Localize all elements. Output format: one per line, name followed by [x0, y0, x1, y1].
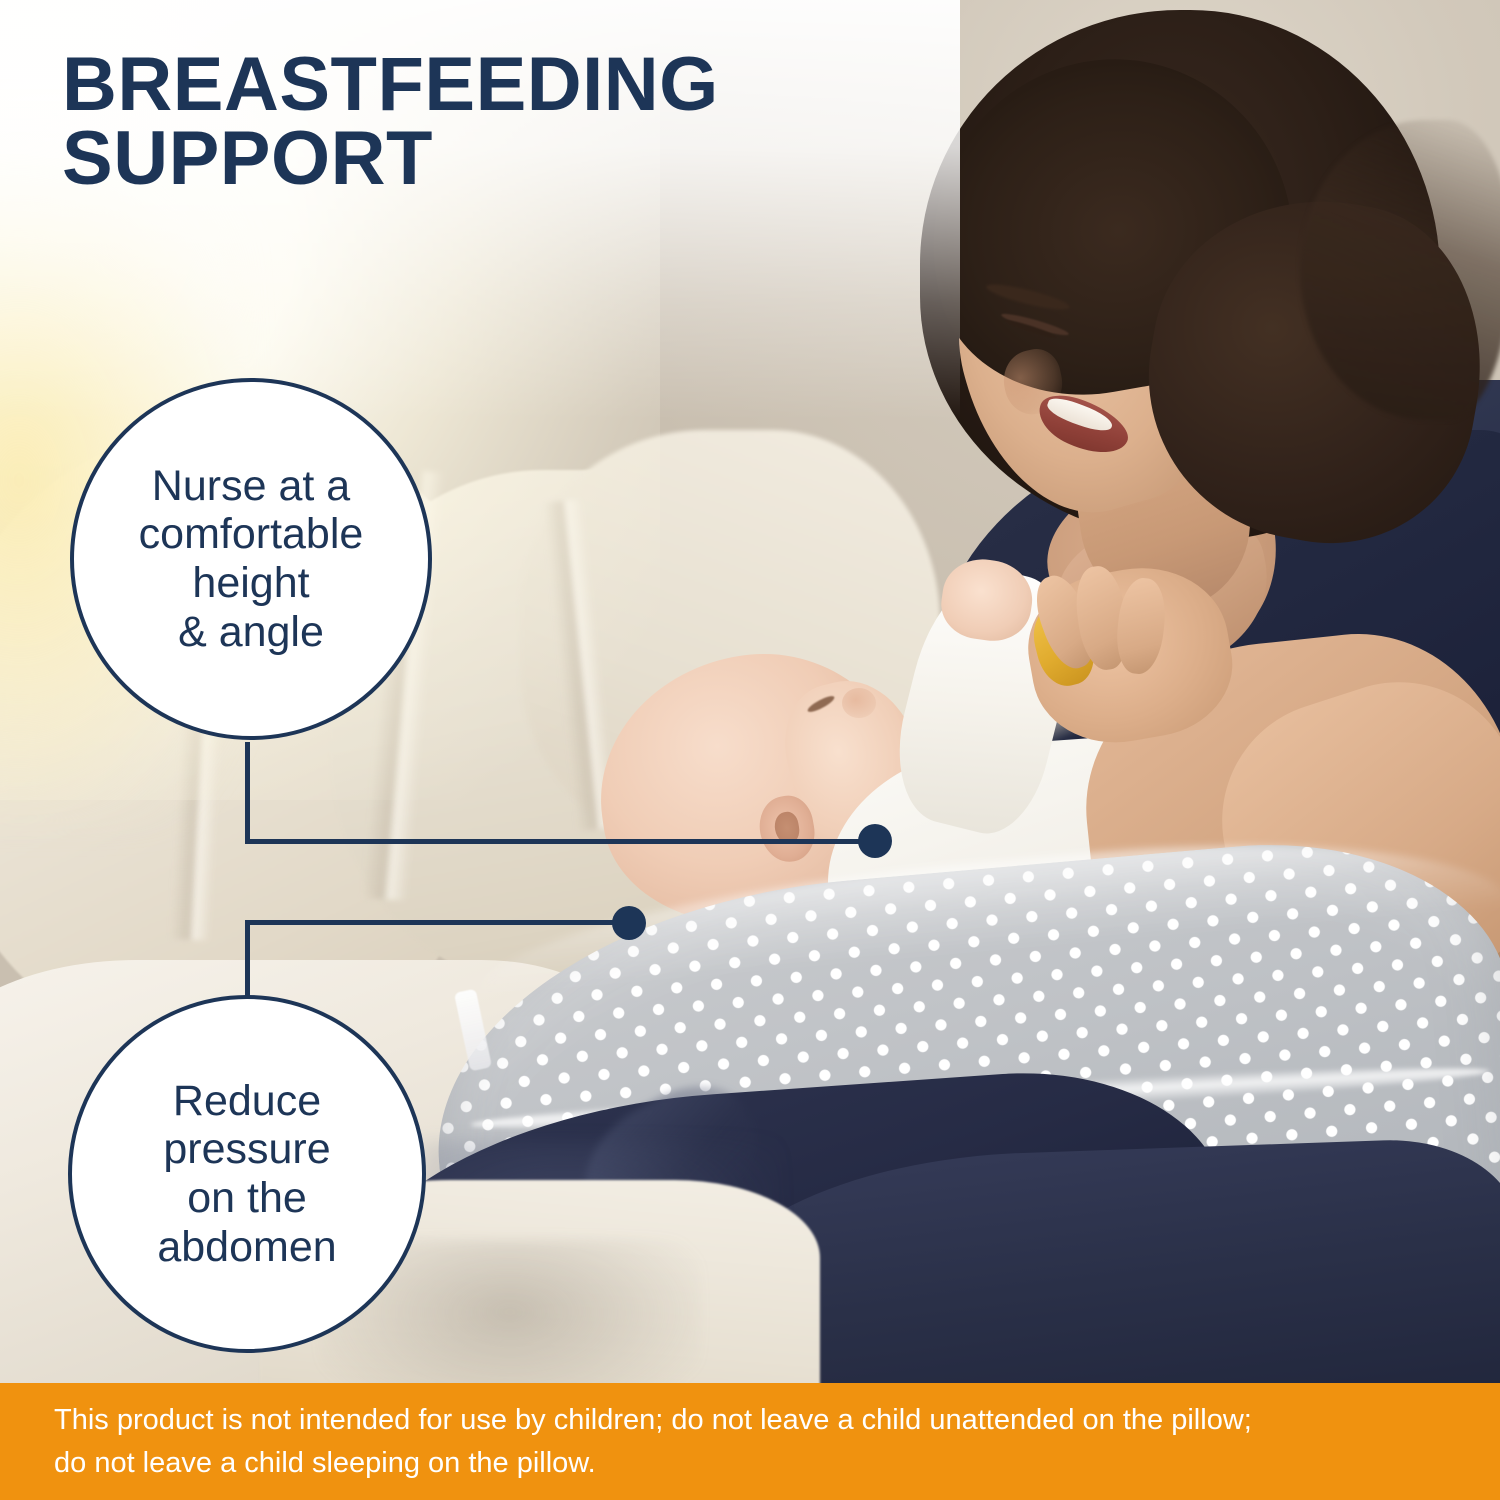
callout-nurse-height-text: Nurse at a comfortable height & angle: [139, 462, 364, 656]
baby-nose: [842, 688, 876, 718]
product-feature-infographic: BREASTFEEDING SUPPORT Nurse at a comfort…: [0, 0, 1500, 1500]
callout-nurse-height[interactable]: Nurse at a comfortable height & angle: [70, 378, 432, 740]
page-title: BREASTFEEDING SUPPORT: [62, 48, 922, 195]
safety-disclaimer-banner: This product is not intended for use by …: [0, 1383, 1500, 1500]
safety-disclaimer-text: This product is not intended for use by …: [0, 1399, 1306, 1485]
callout-reduce-pressure[interactable]: Reduce pressure on the abdomen: [68, 995, 426, 1353]
callout-reduce-pressure-text: Reduce pressure on the abdomen: [157, 1077, 336, 1271]
